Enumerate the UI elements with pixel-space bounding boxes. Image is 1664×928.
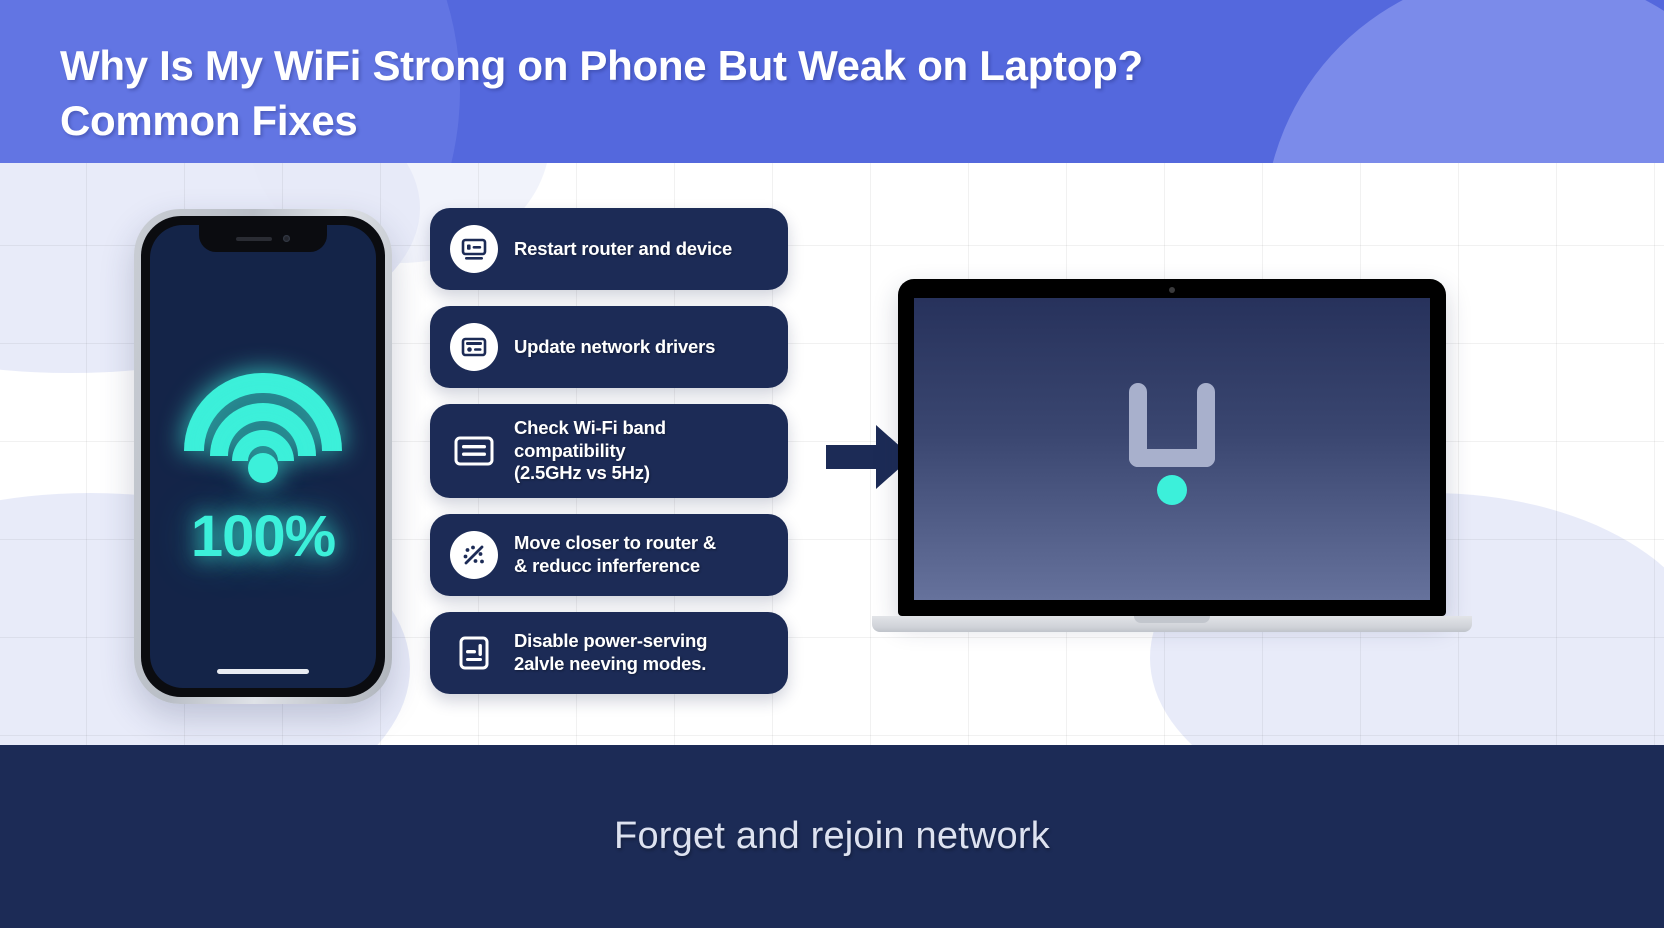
weak-signal-base — [1129, 449, 1215, 467]
list-item-label: Check Wi-Fi band compatibility (2.5GHz v… — [514, 417, 666, 485]
wifi-band-list-icon — [450, 427, 498, 475]
laptop-screen — [914, 298, 1430, 600]
list-item-label: Update network drivers — [514, 336, 715, 359]
list-item-label: Move closer to router & & reducc inferfe… — [514, 532, 716, 577]
list-item[interactable]: Restart router and device — [430, 208, 788, 290]
laptop-lid — [898, 279, 1446, 616]
list-item[interactable]: Update network drivers — [430, 306, 788, 388]
infographic-canvas: Why Is My WiFi Strong on Phone But Weak … — [0, 0, 1664, 928]
phone-screen: 100% — [150, 225, 376, 688]
laptop-illustration — [898, 279, 1472, 632]
footer-text: Forget and rejoin network — [614, 815, 1050, 858]
page-title: Why Is My WiFi Strong on Phone But Weak … — [60, 38, 1340, 149]
list-item[interactable]: Check Wi-Fi band compatibility (2.5GHz v… — [430, 404, 788, 498]
laptop-base-notch — [1134, 616, 1210, 623]
phone-bezel: 100% — [141, 216, 385, 697]
phone-speaker — [236, 237, 272, 241]
header-banner: Why Is My WiFi Strong on Phone But Weak … — [0, 0, 1664, 163]
laptop-camera-icon — [1169, 287, 1175, 293]
router-device-icon — [450, 225, 498, 273]
list-item[interactable]: Move closer to router & & reducc inferfe… — [430, 514, 788, 596]
wifi-weak-signal-icon — [1117, 383, 1227, 515]
weak-signal-dot — [1157, 475, 1187, 505]
wifi-full-strength-icon — [184, 373, 342, 477]
fix-steps-list: Restart router and device Update network… — [430, 208, 788, 694]
list-item[interactable]: Disable power-serving 2alvle neeving mod… — [430, 612, 788, 694]
list-item-label: Restart router and device — [514, 238, 732, 261]
signal-percentage-label: 100% — [191, 503, 335, 570]
phone-notch — [199, 225, 327, 252]
laptop-base — [872, 616, 1472, 632]
wifi-center-dot — [248, 453, 278, 483]
network-driver-card-icon — [450, 323, 498, 371]
footer-banner: Forget and rejoin network — [0, 745, 1664, 928]
phone-camera-icon — [283, 235, 290, 242]
power-saving-mode-icon — [450, 629, 498, 677]
list-item-label: Disable power-serving 2alvle neeving mod… — [514, 630, 707, 675]
signal-interference-icon — [450, 531, 498, 579]
phone-home-indicator — [217, 669, 309, 674]
smartphone-illustration: 100% — [134, 209, 392, 704]
